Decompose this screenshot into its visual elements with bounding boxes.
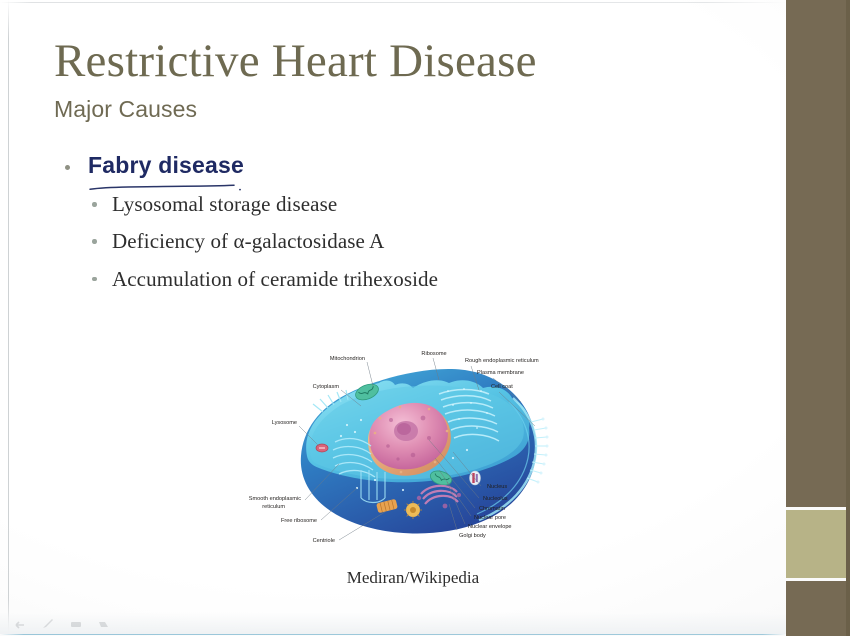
figure-caption: Mediran/Wikipedia — [243, 568, 583, 588]
cell-diagram-svg: Ribosome Mitochondrion Rough endoplasmic… — [243, 330, 583, 562]
figure-label-rough-er: Rough endoplasmic reticulum — [465, 358, 539, 364]
accent-band-edge — [846, 0, 850, 636]
figure-label-centriole: Centriole — [313, 538, 335, 544]
figure-label-plasma-membrane: Plasma membrane — [477, 370, 524, 376]
list-item: Deficiency of α-galactosidase A — [88, 226, 622, 256]
list-item: Lysosomal storage disease — [88, 189, 622, 219]
figure-label-lysosome: Lysosome — [272, 420, 297, 426]
figure-label-nucleus: Nucleus — [487, 484, 507, 490]
figure-label-ribosome: Ribosome — [421, 351, 446, 357]
bullet-dot-icon — [92, 202, 97, 207]
bullet-list: Fabry disease Lysosomal storage disease … — [62, 152, 622, 301]
figure-label-nuclear-envelope: Nuclear envelope — [468, 524, 512, 530]
page-subtitle: Major Causes — [54, 96, 197, 123]
sub-bullet-list: Lysosomal storage disease Deficiency of … — [62, 189, 622, 294]
slide-left-border — [8, 0, 9, 636]
bullet-dot-icon — [92, 239, 97, 244]
list-item: Accumulation of ceramide trihexoside — [88, 264, 622, 294]
figure-label-golgi-body: Golgi body — [459, 533, 486, 539]
figure-label-cytoplasm: Cytoplasm — [313, 384, 340, 390]
figure-label-chromatin: Chromatin — [479, 506, 505, 512]
sub-bullet-text: Accumulation of ceramide trihexoside — [112, 267, 438, 291]
highlighter-icon[interactable] — [96, 616, 111, 630]
figure-label-cell-coat: Cell coat — [491, 384, 513, 390]
accent-band-block — [786, 510, 850, 578]
sub-bullet-text: Lysosomal storage disease — [112, 192, 337, 216]
figure-label-mitochondrion: Mitochondrion — [330, 356, 365, 362]
bullet-dot-icon — [65, 165, 70, 170]
bottom-rule — [0, 634, 786, 635]
bullet-dot-icon — [92, 277, 97, 282]
sub-bullet-text: Deficiency of α-galactosidase A — [112, 229, 384, 253]
pen-icon[interactable] — [40, 616, 55, 630]
eraser-icon[interactable] — [68, 616, 83, 630]
figure-label-free-ribosome: Free ribosome — [281, 518, 317, 524]
page-title: Restrictive Heart Disease — [54, 36, 537, 88]
bullet-label-fabry: Fabry disease — [88, 152, 244, 179]
figure-label-nuclear-pore: Nuclear pore — [474, 515, 506, 521]
accent-band-gap-bottom — [786, 578, 850, 581]
ink-toolbar[interactable] — [12, 616, 111, 630]
cell-diagram-figure: Ribosome Mitochondrion Rough endoplasmic… — [243, 330, 583, 562]
slide-top-border — [0, 2, 786, 3]
pointer-icon[interactable] — [12, 616, 27, 630]
bottom-band — [0, 612, 786, 634]
figure-label-smooth-er-line1: Smooth endoplasmic — [249, 496, 301, 502]
figure-label-nucleolus: Nucleolus — [483, 496, 508, 502]
list-item: Fabry disease — [62, 152, 622, 179]
figure-label-smooth-er-line2: reticulum — [262, 504, 285, 510]
presentation-slide: Restrictive Heart Disease Major Causes F… — [0, 0, 850, 636]
